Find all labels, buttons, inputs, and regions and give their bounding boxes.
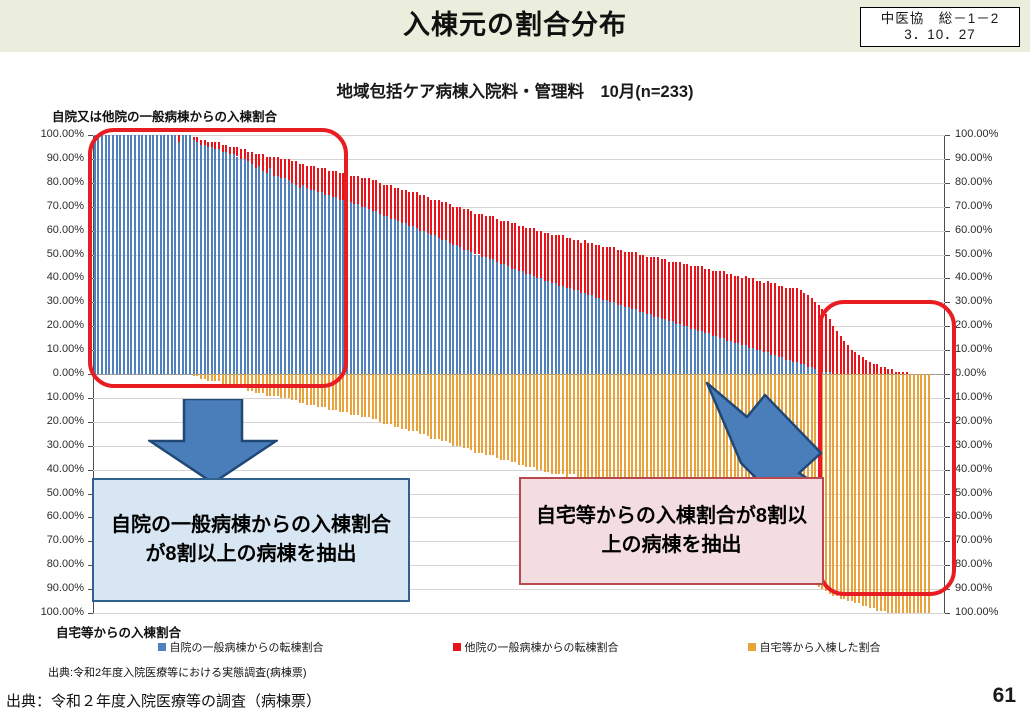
bar-segment-own-ward (233, 154, 235, 374)
bar-segment-own-ward (419, 231, 421, 374)
bar-segment-other-hospital (814, 302, 816, 369)
bar-segment-home (569, 374, 571, 474)
bar-column (939, 135, 941, 613)
bar-segment-other-hospital (884, 367, 886, 374)
bar-segment-own-ward (394, 219, 396, 374)
bar-segment-other-hospital (529, 228, 531, 273)
bar-segment-other-hospital (178, 135, 180, 142)
axis-tick (945, 446, 950, 447)
bar-segment-other-hospital (379, 183, 381, 214)
bar-segment-other-hospital (251, 152, 253, 164)
bar-column (492, 135, 494, 613)
axis-tick-label-right: 40.00% (955, 271, 992, 283)
bar-segment-other-hospital (405, 190, 407, 223)
bar-segment-other-hospital (664, 259, 666, 319)
bar-segment-other-hospital (225, 145, 227, 152)
bar-segment-own-ward (332, 197, 334, 374)
bar-segment-home (427, 374, 429, 436)
bar-segment-other-hospital (778, 286, 780, 358)
bar-segment-home (529, 374, 531, 467)
bar-segment-home (273, 374, 275, 396)
bar-segment-own-ward (492, 259, 494, 374)
bar-segment-home (829, 374, 831, 594)
bar-segment-other-hospital (745, 276, 747, 345)
bar-segment-home (928, 374, 930, 613)
bar-segment-other-hospital (558, 235, 560, 285)
bar-segment-other-hospital (339, 173, 341, 199)
axis-tick-label-right: 10.00% (955, 391, 992, 403)
bar-segment-home (602, 374, 604, 484)
bar-segment-home (598, 374, 600, 482)
bar-segment-other-hospital (748, 278, 750, 347)
axis-tick-label-right: 10.00% (955, 343, 992, 355)
bar-segment-other-hospital (690, 266, 692, 328)
bar-segment-own-ward (756, 350, 758, 374)
bar-segment-other-hospital (375, 180, 377, 211)
bar-segment-other-hospital (555, 235, 557, 283)
bar-segment-other-hospital (518, 226, 520, 271)
axis-tick-label-left: 100.00% (41, 128, 84, 140)
bar-segment-own-ward (178, 142, 180, 374)
bar-column (854, 135, 856, 613)
bar-segment-other-hospital (821, 309, 823, 371)
bar-segment-home (452, 374, 454, 446)
axis-tick-label-right: 40.00% (955, 463, 992, 475)
bar-column (423, 135, 425, 613)
bar-segment-other-hospital (683, 264, 685, 326)
bar-column (412, 135, 414, 613)
bar-segment-own-ward (803, 364, 805, 374)
axis-tick (945, 589, 950, 590)
bar-segment-own-ward (609, 302, 611, 374)
bar-segment-own-ward (321, 192, 323, 374)
bar-segment-home (840, 374, 842, 599)
bar-column (514, 135, 516, 613)
bar-segment-own-ward (719, 338, 721, 374)
bar-segment-other-hospital (481, 214, 483, 257)
bar-segment-other-hospital (628, 252, 630, 307)
bar-segment-other-hospital (368, 178, 370, 209)
axis-tick (945, 135, 950, 136)
axis-tick (945, 350, 950, 351)
axis-tick-label-left: 10.00% (47, 343, 84, 355)
bar-segment-own-ward (441, 240, 443, 374)
bar-segment-home (573, 374, 575, 474)
bar-segment-own-ward (778, 357, 780, 374)
bar-segment-own-ward (152, 135, 154, 374)
bar-segment-other-hospital (617, 250, 619, 305)
legend-label: 自宅等から入棟した割合 (760, 639, 881, 655)
bar-segment-other-hospital (335, 171, 337, 197)
bar-segment-own-ward (386, 216, 388, 374)
bar-column (909, 135, 911, 613)
bar-segment-other-hospital (785, 288, 787, 360)
bar-segment-other-hospital (489, 216, 491, 259)
axis-tick (945, 183, 950, 184)
bar-column (913, 135, 915, 613)
bar-segment-other-hospital (397, 188, 399, 221)
bar-segment-home (379, 374, 381, 422)
bar-segment-home (449, 374, 451, 443)
bar-segment-other-hospital (573, 240, 575, 290)
bar-segment-home (869, 374, 871, 608)
bar-segment-other-hospital (536, 231, 538, 279)
bar-column (449, 135, 451, 613)
axis-tick-label-right: 20.00% (955, 319, 992, 331)
bar-segment-other-hospital (445, 202, 447, 240)
bar-segment-other-hospital (269, 157, 271, 169)
bar-segment-other-hospital (412, 192, 414, 225)
bar-segment-other-hospital (540, 231, 542, 279)
bar-segment-own-ward (390, 219, 392, 374)
bar-segment-other-hospital (686, 264, 688, 326)
axis-tick-label-left: 20.00% (47, 415, 84, 427)
bar-segment-home (854, 374, 856, 603)
legend-item: 自院の一般病棟からの転棟割合 (158, 639, 324, 655)
bar-segment-other-hospital (456, 207, 458, 245)
bar-segment-home (880, 374, 882, 611)
axis-tick (88, 613, 93, 614)
bar-segment-own-ward (547, 281, 549, 374)
bar-segment-other-hospital (478, 214, 480, 255)
bar-segment-own-ward (134, 135, 136, 374)
bar-segment-other-hospital (701, 266, 703, 331)
bar-segment-other-hospital (544, 233, 546, 281)
bar-segment-own-ward (368, 209, 370, 374)
bar-segment-own-ward (335, 197, 337, 374)
axis-tick-label-right: 60.00% (955, 224, 992, 236)
bar-segment-own-ward (145, 135, 147, 374)
bar-segment-own-ward (551, 283, 553, 374)
bar-column (441, 135, 443, 613)
bar-segment-other-hospital (361, 178, 363, 207)
bar-segment-own-ward (97, 135, 99, 374)
bar-segment-own-ward (449, 243, 451, 374)
bar-segment-own-ward (171, 135, 173, 374)
bar-segment-home (906, 374, 908, 613)
bar-segment-home (876, 374, 878, 611)
bar-segment-own-ward (244, 159, 246, 374)
bar-segment-own-ward (445, 240, 447, 374)
bar-segment-other-hospital (591, 243, 593, 296)
axis-tick-label-left: 100.00% (41, 606, 84, 618)
axis-tick-label-left: 40.00% (47, 463, 84, 475)
bar-segment-own-ward (661, 319, 663, 374)
bar-segment-own-ward (602, 300, 604, 374)
bar-segment-home (847, 374, 849, 601)
chart-legend: 自院の一般病棟からの転棟割合他院の一般病棟からの転棟割合自宅等から入棟した割合 (93, 639, 945, 655)
bar-segment-own-ward (533, 276, 535, 374)
bar-segment-other-hospital (759, 281, 761, 350)
bar-segment-own-ward (211, 147, 213, 374)
bar-segment-other-hospital (240, 149, 242, 159)
bar-segment-home (229, 374, 231, 386)
bar-segment-home (924, 374, 926, 613)
bar-segment-home (558, 374, 560, 474)
bar-segment-other-hospital (273, 157, 275, 176)
bar-segment-other-hospital (851, 350, 853, 374)
bar-segment-other-hospital (796, 288, 798, 362)
axis-tick (88, 183, 93, 184)
bar-segment-own-ward (613, 302, 615, 374)
bar-segment-own-ward (383, 216, 385, 374)
bar-segment-own-ward (412, 226, 414, 374)
bar-segment-home (562, 374, 564, 474)
axis-tick (945, 470, 950, 471)
bar-segment-other-hospital (580, 243, 582, 293)
bar-segment-other-hospital (708, 269, 710, 334)
bar-segment-home (317, 374, 319, 407)
bar-segment-other-hospital (741, 278, 743, 345)
bar-segment-home (536, 374, 538, 470)
bar-segment-own-ward (481, 257, 483, 374)
bar-segment-other-hospital (642, 255, 644, 312)
bar-segment-home (321, 374, 323, 407)
bar-segment-other-hospital (503, 221, 505, 264)
bar-segment-own-ward (598, 298, 600, 374)
bar-segment-other-hospital (730, 274, 732, 341)
bar-segment-own-ward (518, 271, 520, 374)
bar-segment-other-hospital (635, 252, 637, 309)
bar-segment-home (244, 374, 246, 388)
bar-segment-own-ward (225, 152, 227, 374)
bar-segment-other-hospital (756, 281, 758, 350)
bar-segment-own-ward (361, 207, 363, 374)
axis-tick (945, 302, 950, 303)
bar-segment-own-ward (584, 293, 586, 374)
bar-segment-own-ward (364, 207, 366, 374)
bar-segment-other-hospital (229, 147, 231, 154)
bar-column (880, 135, 882, 613)
bar-segment-other-hospital (562, 235, 564, 285)
bar-segment-home (639, 374, 641, 491)
bar-segment-own-ward (752, 348, 754, 374)
bar-segment-own-ward (631, 309, 633, 374)
bar-segment-own-ward (317, 192, 319, 374)
bar-segment-home (419, 374, 421, 434)
bar-segment-own-ward (686, 326, 688, 374)
axis-tick-label-right: 30.00% (955, 439, 992, 451)
axis-tick (945, 374, 950, 375)
bar-segment-home (518, 374, 520, 465)
axis-tick-label-left: 50.00% (47, 248, 84, 260)
bar-segment-home (825, 374, 827, 591)
bar-segment-own-ward (262, 171, 264, 374)
bar-segment-own-ward (167, 135, 169, 374)
bar-column (895, 135, 897, 613)
bar-segment-home (225, 374, 227, 384)
axis-tick (88, 231, 93, 232)
bar-segment-home (851, 374, 853, 601)
bar-segment-other-hospital (299, 164, 301, 188)
bar-segment-other-hospital (280, 159, 282, 178)
bar-segment-own-ward (566, 288, 568, 374)
bar-segment-other-hospital (525, 228, 527, 273)
bar-segment-other-hospital (613, 247, 615, 302)
bar-segment-own-ward (650, 314, 652, 374)
bar-segment-home (642, 374, 644, 491)
bar-segment-home (390, 374, 392, 424)
bar-segment-home (503, 374, 505, 460)
bar-segment-other-hospital (547, 233, 549, 281)
axis-tick-label-right: 50.00% (955, 487, 992, 499)
bar-segment-other-hospital (726, 274, 728, 341)
bar-segment-home (441, 374, 443, 441)
bar-segment-own-ward (544, 281, 546, 374)
bar-segment-own-ward (562, 286, 564, 374)
bar-segment-own-ward (741, 345, 743, 374)
axis-tick (945, 398, 950, 399)
bar-segment-other-hospital (602, 247, 604, 300)
bar-segment-home (445, 374, 447, 441)
bar-segment-other-hospital (587, 243, 589, 296)
bar-segment-own-ward (116, 135, 118, 374)
bar-segment-own-ward (342, 200, 344, 374)
bar-segment-other-hospital (533, 228, 535, 276)
bar-segment-other-hospital (258, 154, 260, 166)
bar-segment-other-hospital (295, 161, 297, 185)
bar-segment-own-ward (668, 321, 670, 374)
axis-tick-label-right: 90.00% (955, 152, 992, 164)
bar-segment-home (236, 374, 238, 386)
bar-column (931, 135, 933, 613)
bar-segment-other-hospital (193, 137, 195, 139)
bar-segment-other-hospital (653, 257, 655, 317)
bar-segment-home (913, 374, 915, 613)
bar-segment-own-ward (339, 200, 341, 374)
bar-segment-home (255, 374, 257, 393)
bar-column (829, 135, 831, 613)
bar-segment-own-ward (737, 343, 739, 374)
bar-segment-own-ward (525, 274, 527, 374)
bar-segment-own-ward (273, 176, 275, 374)
bar-segment-own-ward (397, 221, 399, 374)
axis-tick-label-left: 10.00% (47, 391, 84, 403)
bar-segment-other-hospital (496, 219, 498, 262)
bar-segment-home (430, 374, 432, 439)
bar-segment-home (288, 374, 290, 398)
bar-segment-own-ward (207, 147, 209, 374)
bar-segment-own-ward (430, 235, 432, 374)
bar-segment-own-ward (149, 135, 151, 374)
bar-segment-own-ward (324, 195, 326, 374)
bar-segment-own-ward (160, 135, 162, 374)
bar-segment-home (434, 374, 436, 439)
bar-segment-own-ward (774, 355, 776, 374)
bar-column (862, 135, 864, 613)
bar-segment-home (364, 374, 366, 417)
bar-segment-home (584, 374, 586, 477)
bar-segment-own-ward (200, 145, 202, 374)
bar-segment-own-ward (357, 204, 359, 374)
bar-segment-other-hospital (624, 252, 626, 307)
bar-segment-other-hospital (324, 168, 326, 194)
bar-segment-home (873, 374, 875, 608)
bar-segment-own-ward (141, 135, 143, 374)
bar-segment-other-hospital (507, 221, 509, 266)
bar-segment-other-hospital (353, 176, 355, 205)
bar-segment-own-ward (196, 142, 198, 374)
bar-segment-other-hospital (383, 185, 385, 216)
bar-segment-home (898, 374, 900, 613)
bar-segment-own-ward (642, 312, 644, 374)
bar-segment-other-hospital (423, 195, 425, 231)
callout-left: 自院の一般病棟からの入棟割合が8割以上の病棟を抽出 (92, 478, 410, 602)
bar-segment-own-ward (138, 135, 140, 374)
bar-segment-other-hospital (792, 288, 794, 362)
bar-segment-own-ward (240, 159, 242, 374)
bar-segment-other-hospital (865, 360, 867, 374)
bar-segment-own-ward (459, 247, 461, 374)
bar-segment-other-hospital (266, 157, 268, 174)
axis-tick-label-left: 90.00% (47, 582, 84, 594)
bar-segment-own-ward (182, 135, 184, 374)
bar-column (865, 135, 867, 613)
bar-segment-other-hospital (679, 262, 681, 324)
bar-column (478, 135, 480, 613)
bar-column (928, 135, 930, 613)
bar-column (427, 135, 429, 613)
bar-segment-own-ward (507, 266, 509, 374)
bar-segment-other-hospital (734, 276, 736, 343)
bar-segment-home (463, 374, 465, 448)
bar-segment-other-hospital (551, 235, 553, 283)
bar-segment-home (405, 374, 407, 429)
axis-tick (88, 398, 93, 399)
down-arrow-icon (148, 399, 278, 485)
bar-segment-home (247, 374, 249, 391)
bar-segment-home (467, 374, 469, 448)
bar-segment-other-hospital (843, 341, 845, 374)
bar-segment-own-ward (617, 305, 619, 374)
bar-segment-other-hospital (408, 192, 410, 225)
bar-segment-home (544, 374, 546, 472)
bar-segment-other-hospital (317, 168, 319, 192)
axis-tick (88, 326, 93, 327)
bar-segment-other-hospital (332, 171, 334, 197)
bar-segment-home (218, 374, 220, 381)
bar-segment-own-ward (646, 314, 648, 374)
bar-segment-own-ward (789, 360, 791, 374)
bar-segment-home (200, 374, 202, 379)
bar-segment-home (489, 374, 491, 455)
bar-segment-other-hospital (774, 283, 776, 355)
bar-segment-other-hospital (310, 166, 312, 190)
axis-tick (88, 374, 93, 375)
bar-column (485, 135, 487, 613)
bar-segment-other-hospital (419, 195, 421, 231)
bar-segment-home (438, 374, 440, 439)
source-note-inner: 出典:令和2年度入院医療等における実態調査(病棟票) (48, 664, 307, 680)
bar-column (500, 135, 502, 613)
axis-tick (88, 135, 93, 136)
bar-segment-home (533, 374, 535, 467)
bar-segment-home (346, 374, 348, 412)
bar-segment-home (481, 374, 483, 453)
bar-segment-other-hospital (372, 180, 374, 211)
bar-segment-own-ward (438, 238, 440, 374)
source-note-outer: 出典：令和２年度入院医療等の調査（病棟票） (6, 690, 321, 711)
axis-tick-label-right: 60.00% (955, 510, 992, 522)
bar-segment-own-ward (328, 195, 330, 374)
bar-segment-home (595, 374, 597, 482)
axis-tick-label-left: 70.00% (47, 534, 84, 546)
bar-segment-own-ward (595, 298, 597, 374)
bar-segment-own-ward (628, 307, 630, 374)
bar-segment-own-ward (664, 319, 666, 374)
bar-segment-own-ward (456, 245, 458, 374)
bar-segment-other-hospital (357, 176, 359, 205)
